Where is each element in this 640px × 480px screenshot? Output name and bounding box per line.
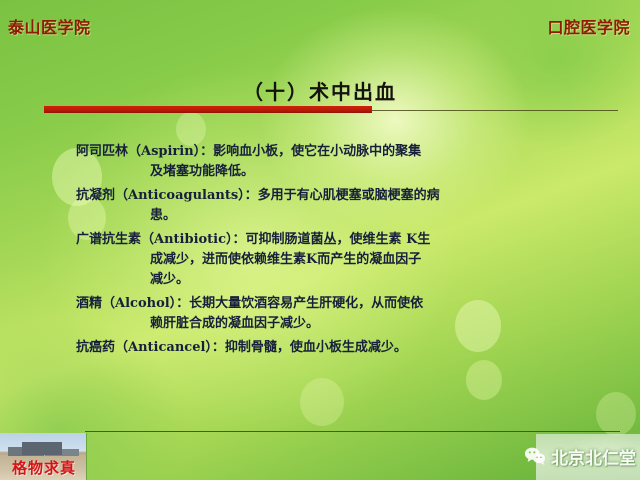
- paragraph-line: 成减少，进而使依赖维生素K而产生的凝血因子: [76, 250, 576, 270]
- paragraph-line: 减少。: [76, 270, 576, 290]
- title-underline-red: [44, 106, 372, 113]
- school-motto: 格物求真: [2, 457, 86, 478]
- bokeh-circle: [300, 378, 344, 426]
- presentation-slide: 泰山医学院 口腔医学院 （十）术中出血 阿司匹林（Aspirin）：影响血小板，…: [0, 0, 640, 480]
- bullet-paragraph-antibiotic: 广谱抗生素（Antibiotic）：可抑制肠道菌丛，使维生素 K生 成减少，进而…: [76, 230, 576, 290]
- paragraph-line: 赖肝脏合成的凝血因子减少。: [76, 314, 576, 334]
- paragraph-line: 广谱抗生素（Antibiotic）：可抑制肠道菌丛，使维生素 K生: [76, 232, 430, 247]
- header-band: 泰山医学院 口腔医学院: [0, 0, 640, 48]
- paragraph-line: 患。: [76, 206, 576, 226]
- bullet-paragraph-anticoagulants: 抗凝剂（Anticoagulants）：多用于有心肌梗塞或脑梗塞的病 患。: [76, 186, 576, 226]
- paragraph-line: 阿司匹林（Aspirin）：影响血小板，使它在小动脉中的聚集: [76, 144, 421, 159]
- paragraph-line: 酒精（Alcohol）：长期大量饮酒容易产生肝硬化，从而使依: [76, 296, 423, 311]
- wechat-icon: [524, 445, 546, 467]
- bullet-paragraph-alcohol: 酒精（Alcohol）：长期大量饮酒容易产生肝硬化，从而使依 赖肝脏合成的凝血因…: [76, 294, 576, 334]
- watermark-text: 北京北仁堂: [551, 444, 636, 469]
- bullet-paragraph-anticancer: 抗癌药（Anticancel）：抑制骨髓，使血小板生成减少。: [76, 338, 576, 358]
- paragraph-line: 及堵塞功能降低。: [76, 162, 576, 182]
- bokeh-circle: [466, 360, 502, 400]
- slide-title: （十）术中出血: [0, 76, 640, 105]
- footer-divider: [85, 431, 620, 432]
- bokeh-circle: [176, 112, 206, 146]
- paragraph-line: 抗凝剂（Anticoagulants）：多用于有心肌梗塞或脑梗塞的病: [76, 188, 440, 203]
- bullet-paragraph-aspirin: 阿司匹林（Aspirin）：影响血小板，使它在小动脉中的聚集 及堵塞功能降低。: [76, 142, 576, 182]
- campus-photo-thumbnail: 格物求真: [0, 433, 87, 480]
- institution-name-right: 口腔医学院: [547, 14, 630, 38]
- paragraph-line: 抗癌药（Anticancel）：抑制骨髓，使血小板生成减少。: [76, 340, 407, 355]
- photo-building: [22, 442, 62, 455]
- wechat-watermark: 北京北仁堂: [524, 434, 636, 478]
- slide-body: 阿司匹林（Aspirin）：影响血小板，使它在小动脉中的聚集 及堵塞功能降低。 …: [76, 142, 576, 362]
- bokeh-circle: [596, 392, 636, 436]
- institution-name-left: 泰山医学院: [8, 14, 91, 38]
